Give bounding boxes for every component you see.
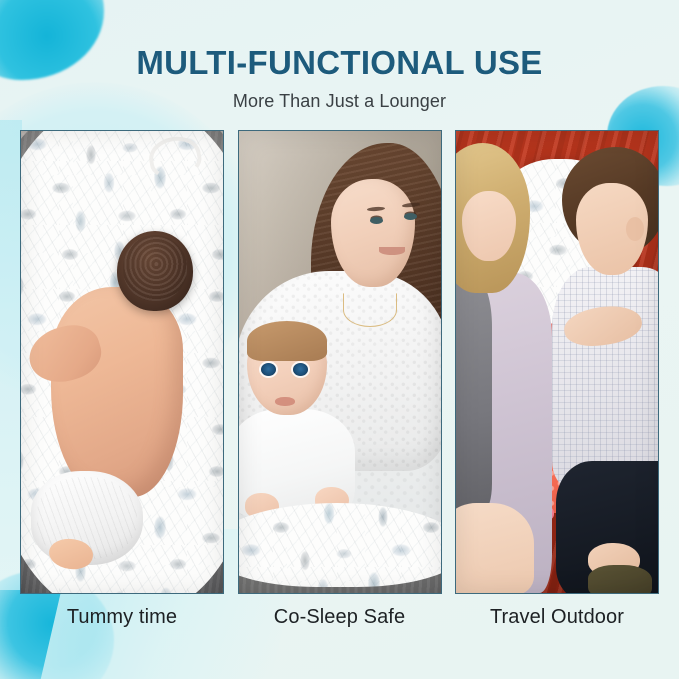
- infographic-canvas: MULTI-FUNCTIONAL USE More Than Just a Lo…: [0, 0, 679, 679]
- mother-eye-left: [370, 217, 383, 224]
- header: MULTI-FUNCTIONAL USE More Than Just a Lo…: [0, 0, 679, 110]
- mother-leg: [456, 503, 534, 593]
- caption-tummy-time: Tummy time: [20, 606, 224, 628]
- page-title: MULTI-FUNCTIONAL USE: [0, 46, 679, 79]
- photo-tummy-time: [21, 131, 223, 593]
- photo-panel-co-sleep-safe: [238, 130, 442, 594]
- necklace: [343, 293, 397, 327]
- photo-travel-outdoor: [456, 131, 658, 593]
- caption-row: Tummy time Co-Sleep Safe Travel Outdoor: [20, 606, 659, 628]
- baby-mouth: [275, 397, 295, 406]
- panel-row: [20, 130, 659, 594]
- father-shoe: [588, 565, 652, 593]
- photo-panel-tummy-time: [20, 130, 224, 594]
- baby-eye-right: [293, 363, 308, 376]
- mother-face: [331, 179, 415, 287]
- mother-mouth: [379, 247, 405, 255]
- baby-eye-left: [261, 363, 276, 376]
- baby-body: [51, 287, 183, 497]
- father-shirt: [552, 267, 658, 487]
- baby-hair: [247, 321, 327, 361]
- mother-vest: [456, 281, 492, 511]
- lounger-pad: [239, 503, 441, 587]
- page-subtitle: More Than Just a Lounger: [0, 92, 679, 110]
- photo-panel-travel-outdoor: [455, 130, 659, 594]
- father-ear: [626, 217, 644, 241]
- mother-eye-right: [404, 213, 417, 220]
- leaf-print-fabric: [239, 503, 441, 587]
- caption-travel-outdoor: Travel Outdoor: [455, 606, 659, 628]
- photo-co-sleep-safe: [239, 131, 441, 593]
- baby-head: [117, 231, 193, 311]
- caption-co-sleep-safe: Co-Sleep Safe: [238, 606, 442, 628]
